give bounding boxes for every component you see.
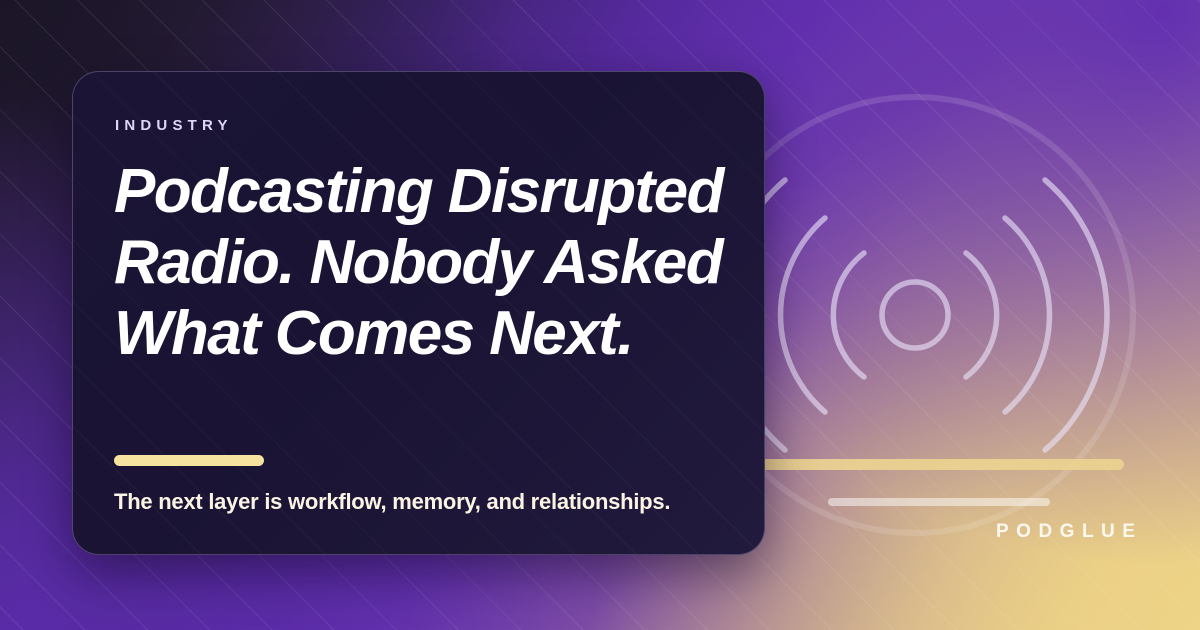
- card-content: INDUSTRY Podcasting Disrupted Radio. Nob…: [73, 72, 764, 554]
- gold-divider-rule: [752, 459, 1124, 470]
- brand-wordmark: PODGLUE: [996, 521, 1142, 543]
- category-eyebrow: INDUSTRY: [115, 117, 233, 134]
- content-card: INDUSTRY Podcasting Disrupted Radio. Nob…: [72, 71, 765, 555]
- subtitle: The next layer is workflow, memory, and …: [114, 487, 744, 517]
- light-divider-rule: [828, 498, 1050, 506]
- page-title: Podcasting Disrupted Radio. Nobody Asked…: [114, 156, 754, 369]
- social-card-canvas: PODGLUE INDUSTRY Podcasting Disrupted Ra…: [0, 0, 1200, 630]
- accent-bar: [114, 455, 264, 466]
